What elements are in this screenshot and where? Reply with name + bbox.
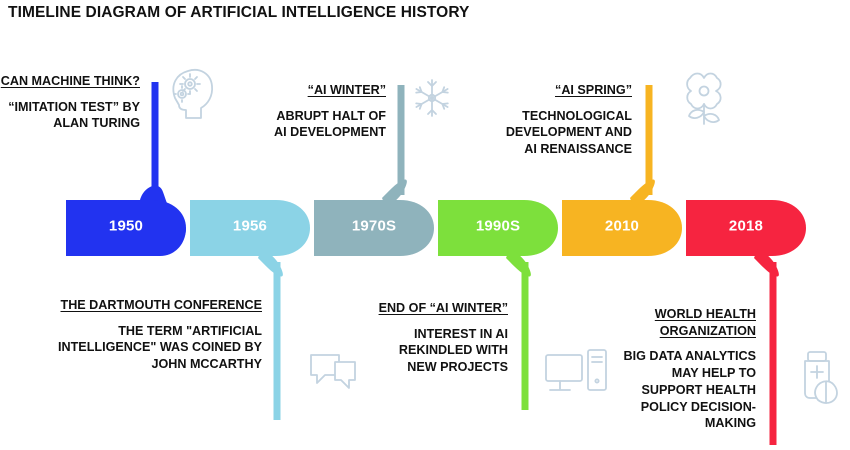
speech-bubbles-icon [311, 355, 355, 388]
desktop-computer-icon [546, 350, 606, 390]
year-label-1970s: 1970S [352, 218, 396, 235]
year-label-1950: 1950 [109, 218, 143, 235]
event-heading: “AI WINTER” [262, 82, 386, 99]
event-block-ai-spring: “AI SPRING” TECHNOLOGICAL DEVELOPMENT AN… [496, 82, 632, 158]
event-heading: THE DARTMOUTH CONFERENCE [22, 297, 262, 314]
event-block-world-health-organization: WORLD HEALTH ORGANIZATION BIG DATA ANALY… [614, 306, 756, 432]
event-block-end-of-ai-winter: END OF “AI WINTER” INTEREST IN AI REKIND… [376, 300, 508, 376]
snowflake-icon [416, 80, 448, 116]
year-label-2010: 2010 [605, 218, 639, 235]
event-heading: WORLD HEALTH ORGANIZATION [614, 306, 756, 339]
year-label-2018: 2018 [729, 218, 763, 235]
year-label-1990s: 1990S [476, 218, 520, 235]
timeline-segment-2018[interactable] [686, 200, 806, 277]
event-heading: CAN MACHINE THINK? [0, 73, 140, 90]
event-body: INTEREST IN AI REKINDLED WITH NEW PROJEC… [376, 326, 508, 376]
timeline-segment-1990s[interactable] [438, 200, 558, 277]
event-body: TECHNOLOGICAL DEVELOPMENT AND AI RENAISS… [496, 108, 632, 158]
event-body: BIG DATA ANALYTICS MAY HELP TO SUPPORT H… [614, 348, 756, 432]
event-block-can-machine-think: CAN MACHINE THINK? “IMITATION TEST” BY A… [0, 73, 140, 132]
year-label-1956: 1956 [233, 218, 267, 235]
timeline-segment-1956[interactable] [190, 200, 310, 277]
pill-bottle-icon [805, 352, 837, 403]
event-heading: END OF “AI WINTER” [376, 300, 508, 317]
flower-icon [687, 74, 721, 125]
event-body: THE TERM "ARTIFICIAL INTELLIGENCE" WAS C… [22, 323, 262, 373]
event-body: “IMITATION TEST” BY ALAN TURING [0, 99, 140, 132]
event-block-ai-winter: “AI WINTER” ABRUPT HALT OF AI DEVELOPMEN… [262, 82, 386, 141]
event-body: ABRUPT HALT OF AI DEVELOPMENT [262, 108, 386, 141]
event-heading: “AI SPRING” [496, 82, 632, 99]
head-with-gears-icon [173, 70, 212, 118]
event-block-dartmouth-conference: THE DARTMOUTH CONFERENCE THE TERM "ARTIF… [22, 297, 262, 373]
